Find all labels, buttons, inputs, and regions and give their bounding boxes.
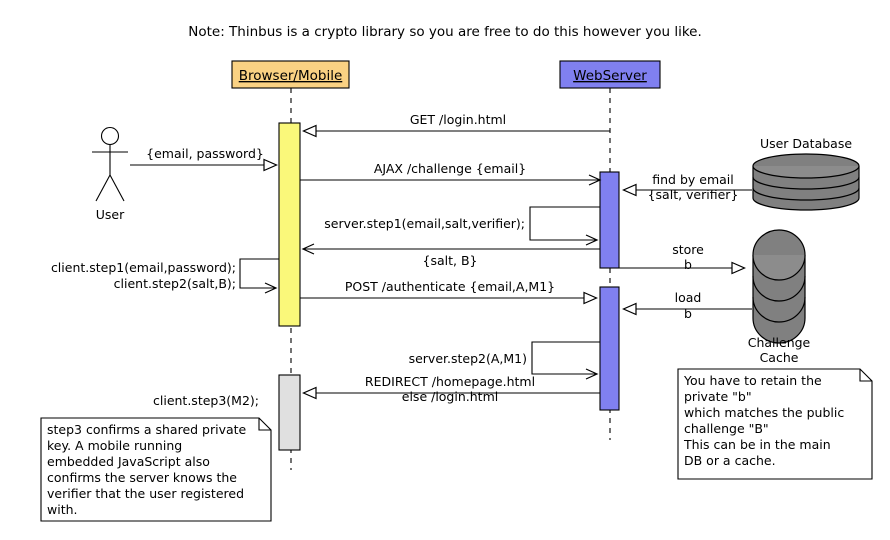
- message-redirect-label-2: else /login.html: [402, 389, 498, 404]
- message-get-login-label: GET /login.html: [410, 112, 506, 127]
- sequence-diagram-canvas: Note: Thinbus is a crypto library so you…: [0, 0, 890, 540]
- message-server-step2[interactable]: server.step2(A,M1): [409, 342, 600, 374]
- note-step3-line-4: confirms the server knows the: [47, 470, 237, 485]
- message-server-step1-label: server.step1(email,salt,verifier);: [324, 216, 525, 231]
- message-salt-b[interactable]: {salt, B}: [303, 249, 600, 268]
- message-find-by-email-label-1: find by email: [652, 172, 733, 187]
- message-server-step2-selfcall: [532, 342, 600, 374]
- note-step3-line-6: with.: [47, 502, 78, 517]
- note-private-b-line-6: DB or a cache.: [684, 453, 776, 468]
- message-load-label: load: [675, 290, 702, 305]
- message-client-step1-step2[interactable]: client.step1(email,password); client.ste…: [51, 259, 279, 291]
- diagram-title-note: Note: Thinbus is a crypto library so you…: [188, 24, 702, 40]
- database-challenge-cache-label-2: Cache: [760, 350, 799, 365]
- activation-webserver-authenticate: [600, 287, 619, 410]
- message-load-b[interactable]: load b: [623, 290, 752, 321]
- message-client-step-selfcall: [240, 259, 279, 288]
- message-load-b-label: b: [684, 306, 692, 321]
- message-redirect-label-1: REDIRECT /homepage.html: [365, 374, 535, 389]
- note-step3-line-1: step3 confirms a shared private: [47, 422, 247, 437]
- message-ajax-challenge[interactable]: AJAX /challenge {email}: [300, 161, 600, 180]
- database-user-database-label: User Database: [760, 136, 852, 151]
- actor-user[interactable]: User: [92, 128, 128, 223]
- note-step3-line-2: key. A mobile running: [47, 438, 182, 453]
- note-private-b-line-1: You have to retain the: [683, 373, 822, 388]
- database-challenge-cache-body: [753, 230, 805, 343]
- activation-browser-step3: [279, 375, 300, 450]
- lifeline-header-browser-label: Browser/Mobile: [239, 68, 343, 84]
- message-ajax-challenge-label: AJAX /challenge {email}: [374, 161, 526, 176]
- message-client-step2-label: client.step2(salt,B);: [114, 276, 236, 291]
- message-client-step1-label: client.step1(email,password);: [51, 260, 236, 275]
- message-store-b[interactable]: store b: [619, 242, 745, 272]
- message-email-password[interactable]: {email, password}: [130, 146, 277, 165]
- note-private-b-line-4: challenge "B": [684, 421, 769, 436]
- note-private-b[interactable]: You have to retain the private "b" which…: [678, 369, 872, 479]
- actor-user-label: User: [96, 207, 125, 222]
- message-post-authenticate-label: POST /authenticate {email,A,M1}: [345, 279, 555, 294]
- message-find-by-email[interactable]: find by email {salt, verifier}: [623, 172, 752, 202]
- note-step3-line-3: embedded JavaScript also: [47, 454, 210, 469]
- message-server-step1-selfcall: [530, 207, 600, 240]
- activation-webserver-challenge: [600, 172, 619, 268]
- message-store-label: store: [672, 242, 704, 257]
- message-redirect[interactable]: REDIRECT /homepage.html else /login.html: [303, 374, 600, 404]
- message-store-b-label: b: [684, 257, 692, 272]
- actor-head-icon: [102, 128, 119, 145]
- lifeline-header-webserver-label: WebServer: [573, 68, 647, 84]
- actor-leg-right: [110, 175, 124, 201]
- message-salt-b-label: {salt, B}: [423, 253, 478, 268]
- message-client-step3-label: client.step3(M2);: [153, 393, 259, 408]
- note-private-b-line-5: This can be in the main: [683, 437, 831, 452]
- actor-leg-left: [96, 175, 110, 201]
- message-email-password-label: {email, password}: [146, 146, 264, 161]
- lifeline-header-browser[interactable]: Browser/Mobile: [232, 61, 349, 88]
- lifeline-header-webserver[interactable]: WebServer: [560, 61, 660, 88]
- note-step3-line-5: verifier that the user registered: [47, 486, 244, 501]
- message-server-step1[interactable]: server.step1(email,salt,verifier);: [324, 207, 600, 240]
- database-challenge-cache[interactable]: Challenge Cache: [748, 230, 811, 365]
- database-challenge-cache-label-1: Challenge: [748, 335, 811, 350]
- message-post-authenticate[interactable]: POST /authenticate {email,A,M1}: [300, 279, 597, 298]
- note-private-b-line-2: private "b": [684, 389, 752, 404]
- message-find-by-email-label-2: {salt, verifier}: [648, 187, 739, 202]
- activation-browser-main: [279, 123, 300, 326]
- database-user-database[interactable]: User Database: [753, 136, 859, 210]
- note-private-b-line-3: which matches the public: [684, 405, 844, 420]
- message-server-step2-label: server.step2(A,M1): [409, 351, 527, 366]
- database-user-database-body: [753, 154, 859, 210]
- note-step3[interactable]: step3 confirms a shared private key. A m…: [41, 418, 271, 521]
- message-get-login[interactable]: GET /login.html: [303, 112, 610, 131]
